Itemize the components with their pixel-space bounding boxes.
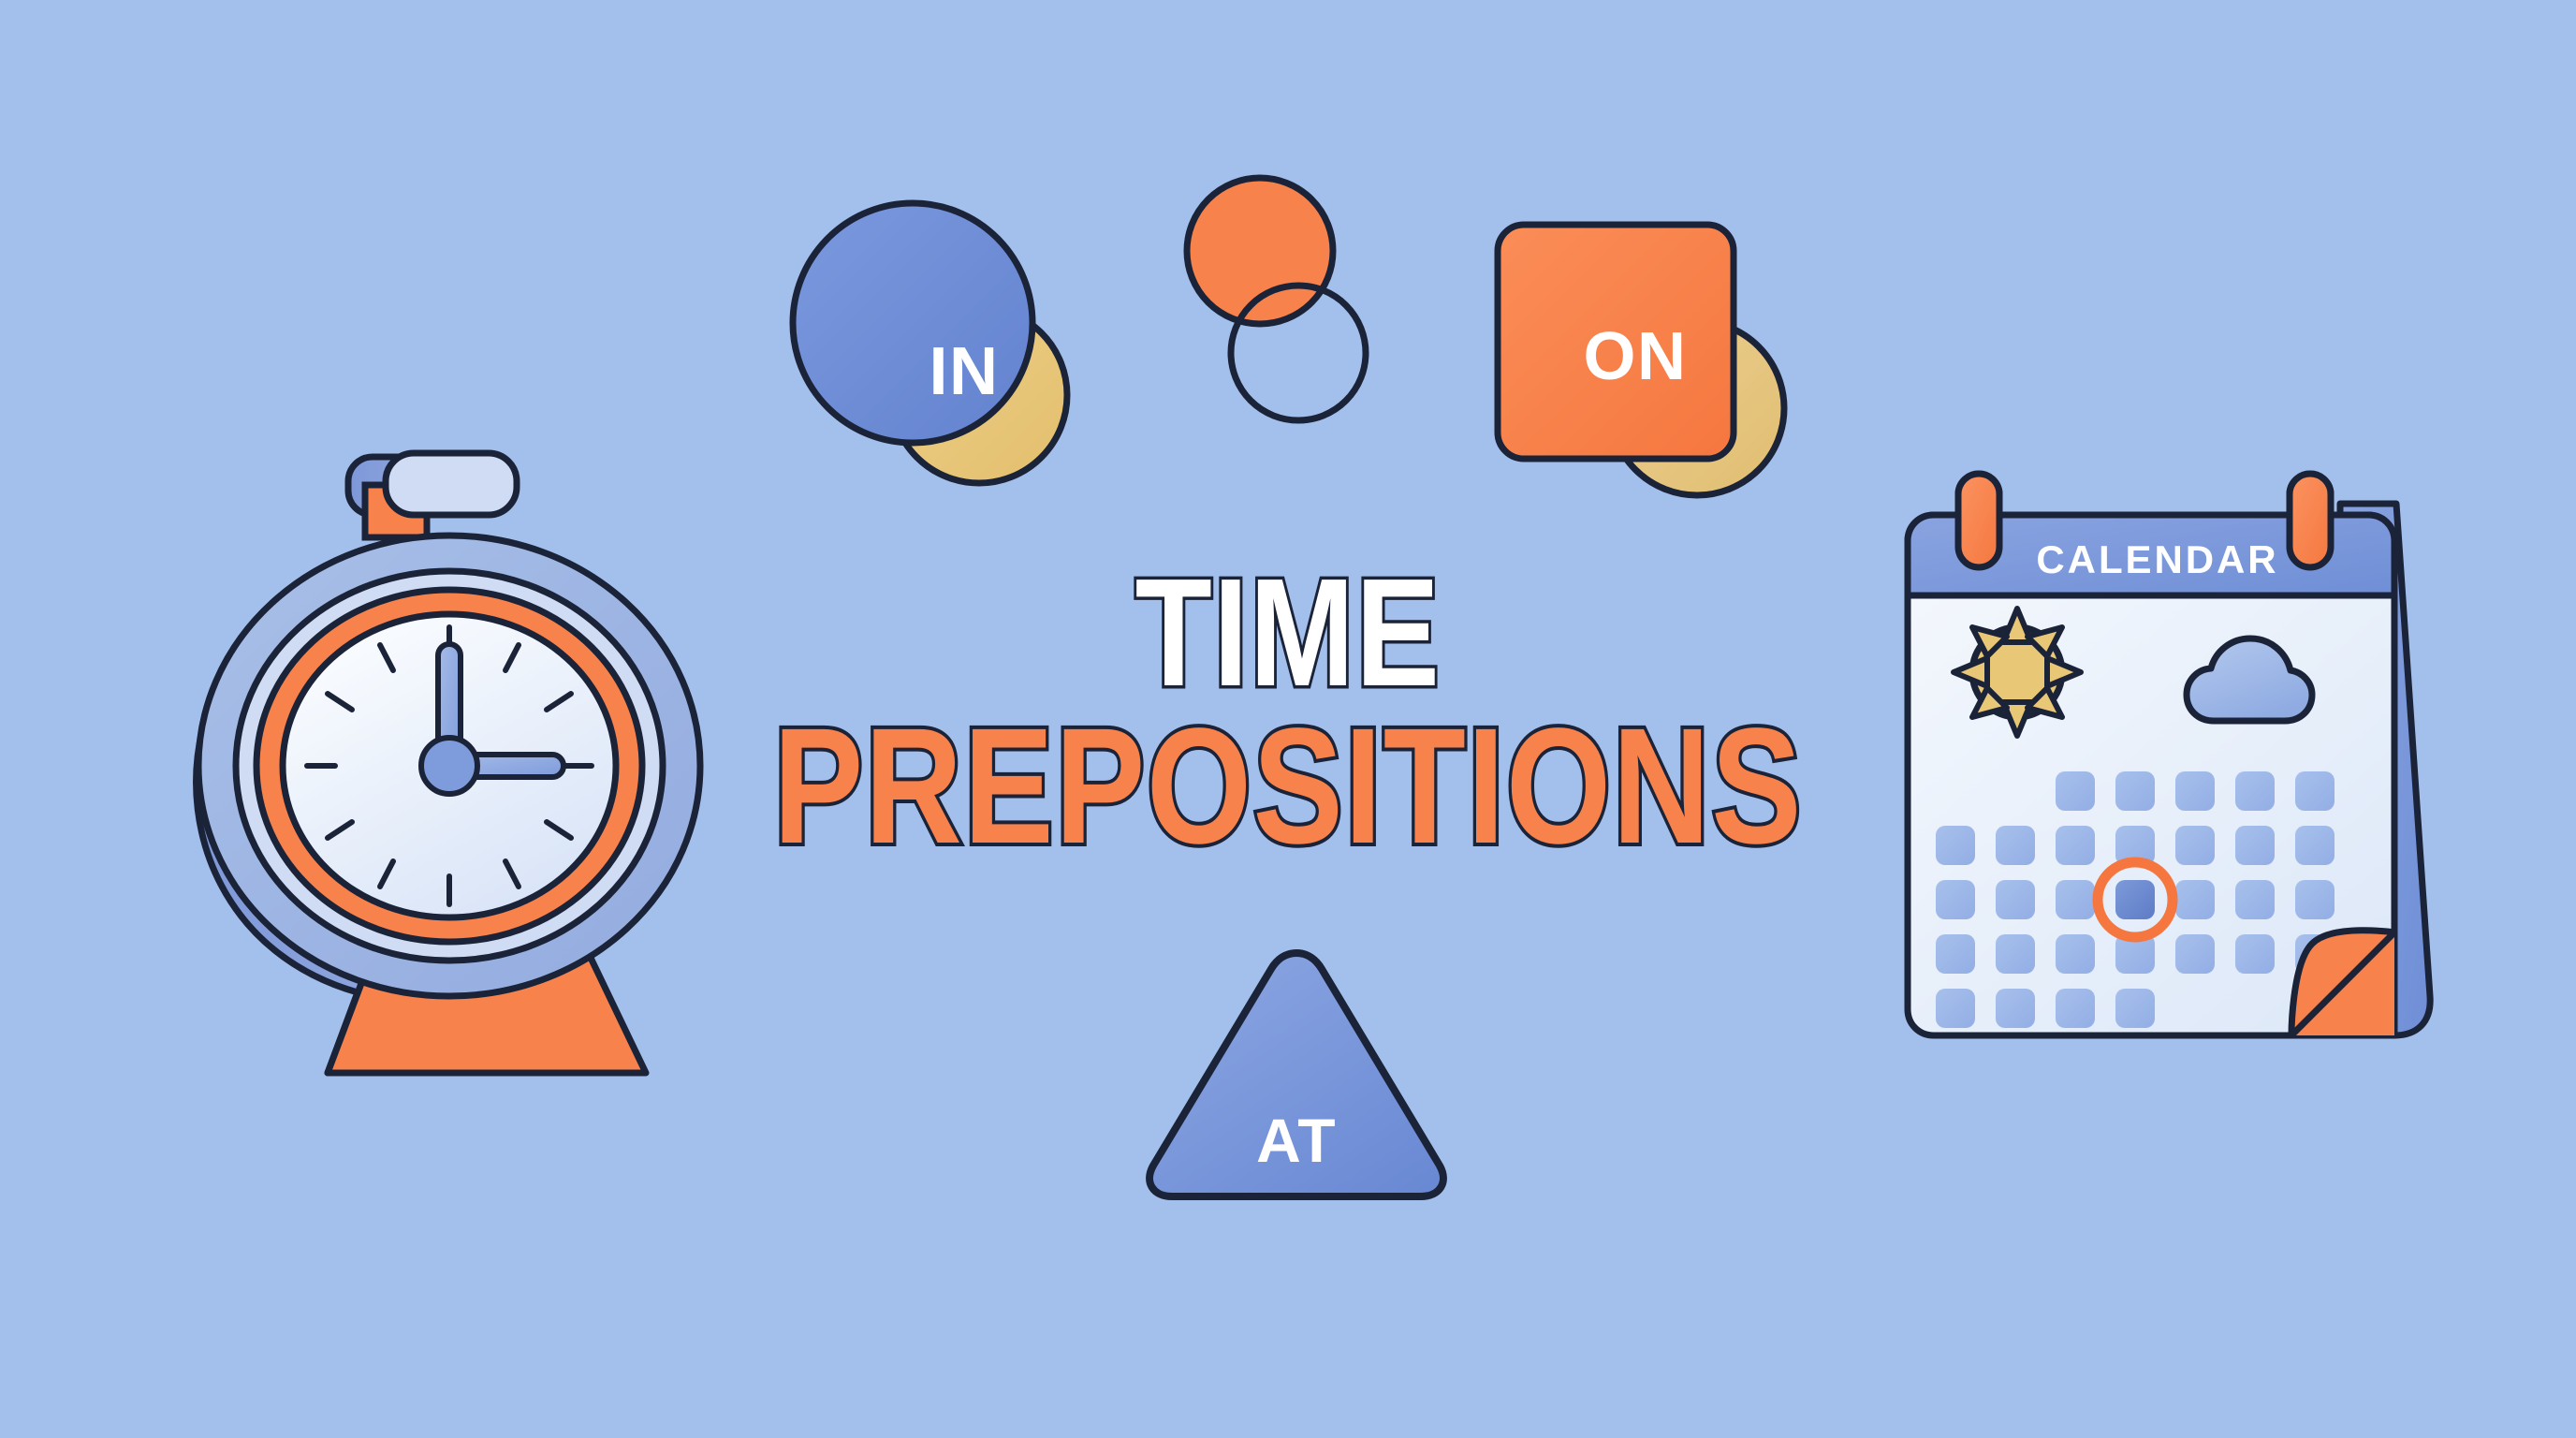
calendar-day-cell-selected[interactable] bbox=[2115, 880, 2155, 919]
badge-on-main-square bbox=[1498, 225, 1734, 459]
badge-in-svg bbox=[777, 178, 1151, 515]
calendar-day-cell[interactable] bbox=[2235, 771, 2275, 811]
decorative-circles bbox=[1170, 159, 1451, 459]
calendar-day-cell[interactable] bbox=[2235, 934, 2275, 974]
badge-in-main-circle bbox=[793, 203, 1032, 443]
clock-center-pin bbox=[421, 738, 477, 794]
badge-at-svg bbox=[1123, 927, 1470, 1217]
calendar-day-cell[interactable] bbox=[2235, 880, 2275, 919]
calendar-day-cell[interactable] bbox=[2056, 989, 2095, 1028]
calendar-day-cell[interactable] bbox=[2235, 826, 2275, 865]
clock-bell-knob bbox=[348, 453, 517, 537]
calendar-day-cell[interactable] bbox=[2115, 771, 2155, 811]
calendar-day-cell[interactable] bbox=[2175, 880, 2215, 919]
sun-icon bbox=[1954, 609, 2081, 736]
calendar-day-cell[interactable] bbox=[1936, 934, 1975, 974]
poster-canvas: IN ON bbox=[0, 0, 2576, 1438]
calendar-day-cell[interactable] bbox=[2295, 880, 2334, 919]
calendar-day-cell[interactable] bbox=[1936, 826, 1975, 865]
calendar-day-cell[interactable] bbox=[1996, 934, 2035, 974]
calendar-day-cell[interactable] bbox=[2175, 771, 2215, 811]
badge-in[interactable]: IN bbox=[777, 178, 1151, 515]
calendar-day-cell[interactable] bbox=[2115, 989, 2155, 1028]
calendar-day-cell[interactable] bbox=[2295, 771, 2334, 811]
calendar-day-cell[interactable] bbox=[2295, 826, 2334, 865]
badge-at[interactable]: AT bbox=[1123, 927, 1470, 1217]
alarm-clock-svg bbox=[140, 431, 721, 1086]
deco-filled-circle bbox=[1187, 178, 1333, 324]
calendar-day-cell[interactable] bbox=[1996, 880, 2035, 919]
calendar-title: CALENDAR bbox=[1938, 537, 2378, 582]
calendar-day-cell[interactable] bbox=[2056, 826, 2095, 865]
calendar-day-cell[interactable] bbox=[2175, 826, 2215, 865]
calendar-day-cell[interactable] bbox=[2056, 880, 2095, 919]
badge-at-triangle bbox=[1149, 953, 1443, 1196]
calendar-day-cell[interactable] bbox=[2056, 934, 2095, 974]
calendar-day-cell[interactable] bbox=[1996, 989, 2035, 1028]
badge-on-svg bbox=[1479, 178, 1853, 543]
calendar-day-cell[interactable] bbox=[2175, 934, 2215, 974]
calendar-day-cell[interactable] bbox=[1996, 826, 2035, 865]
calendar-day-cell[interactable] bbox=[1936, 880, 1975, 919]
badge-on[interactable]: ON bbox=[1479, 178, 1853, 543]
calendar-day-cell[interactable] bbox=[2056, 771, 2095, 811]
calendar-illustration: CALENDAR bbox=[1900, 459, 2481, 1058]
calendar-day-cell[interactable] bbox=[1936, 989, 1975, 1028]
decorative-circles-svg bbox=[1170, 159, 1451, 459]
alarm-clock-illustration bbox=[140, 431, 721, 1086]
